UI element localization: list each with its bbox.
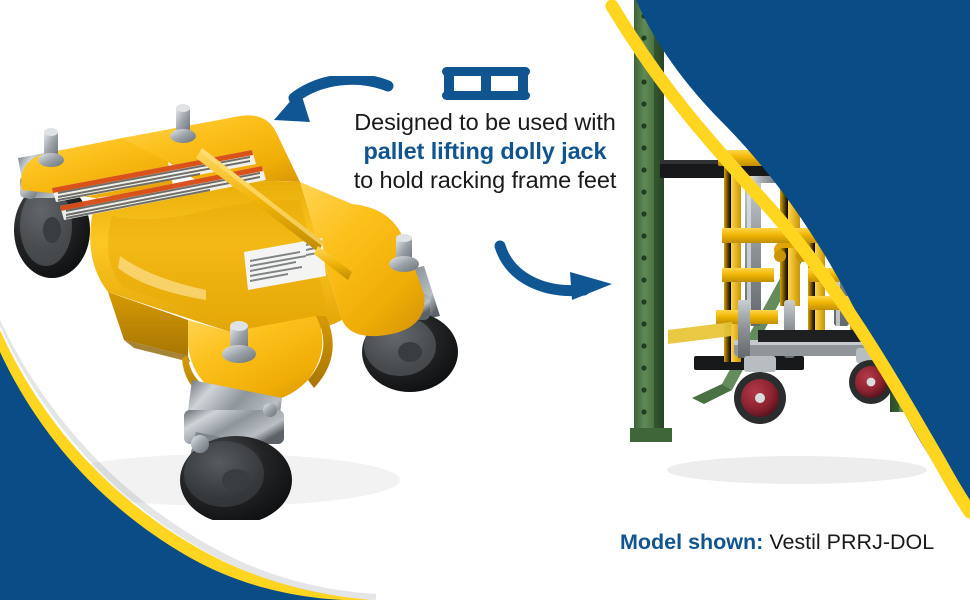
callout-line-3: to hold racking frame feet (330, 166, 640, 195)
callout-line-1: Designed to be used with (330, 108, 640, 137)
pallet-rack-icon (440, 66, 532, 102)
rack-jack-illustration (612, 0, 970, 520)
model-shown-value: Vestil PRRJ-DOL (769, 530, 934, 554)
product-banner: Designed to be used with pallet lifting … (0, 0, 970, 600)
model-shown-caption: Model shown: Vestil PRRJ-DOL (620, 529, 934, 555)
caster-front-left (180, 380, 292, 520)
caster-rear (849, 348, 893, 404)
callout-line-2: pallet lifting dolly jack (330, 137, 640, 166)
arrow-to-jack-icon (492, 238, 620, 304)
rack-post-left (630, 0, 672, 442)
model-shown-label: Model shown: (620, 530, 763, 554)
right-product-photo (612, 0, 970, 520)
callout-text-block: Designed to be used with pallet lifting … (330, 108, 640, 195)
